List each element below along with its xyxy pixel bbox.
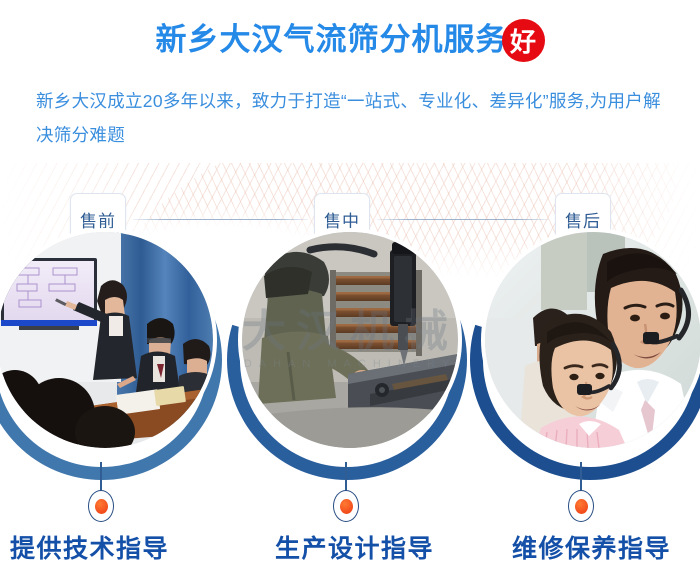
caption-midsale: 生产设计指导 xyxy=(275,529,434,565)
banner-header: 新乡大汉气流筛分机服务 好 新乡大汉成立20多年以来，致力于打造“一站式、专业化… xyxy=(0,0,700,165)
subtitle-text: 新乡大汉成立20多年以来，致力于打造“一站式、专业化、差异化”服务,为用户解决筛… xyxy=(36,84,676,152)
marker-dot-presale xyxy=(88,490,114,522)
marker-inner-dot-icon xyxy=(95,499,108,514)
caption-aftersale: 维修保养指导 xyxy=(512,529,671,565)
service-card-aftersale[interactable] xyxy=(470,236,700,486)
marker-dot-midsale xyxy=(333,490,359,522)
step-connector-line xyxy=(133,219,308,220)
page-title: 新乡大汉气流筛分机服务 xyxy=(156,20,508,60)
step-connector-line xyxy=(377,219,549,220)
customer-service-photo xyxy=(485,232,700,448)
marker-inner-dot-icon xyxy=(575,499,588,514)
marker-inner-dot-icon xyxy=(340,499,353,514)
service-card-presale[interactable] xyxy=(0,236,228,486)
photo-circle-row xyxy=(0,236,700,486)
workshop-drilling-photo xyxy=(242,232,458,448)
caption-row: 提供技术指导 生产设计指导 维修保养指导 xyxy=(0,529,700,575)
marker-dot-aftersale xyxy=(568,490,594,522)
title-row: 新乡大汉气流筛分机服务 好 xyxy=(0,18,700,61)
service-card-midsale[interactable] xyxy=(227,236,473,486)
title-badge: 好 xyxy=(502,19,545,62)
caption-presale: 提供技术指导 xyxy=(10,529,169,565)
training-presentation-photo xyxy=(0,232,213,448)
